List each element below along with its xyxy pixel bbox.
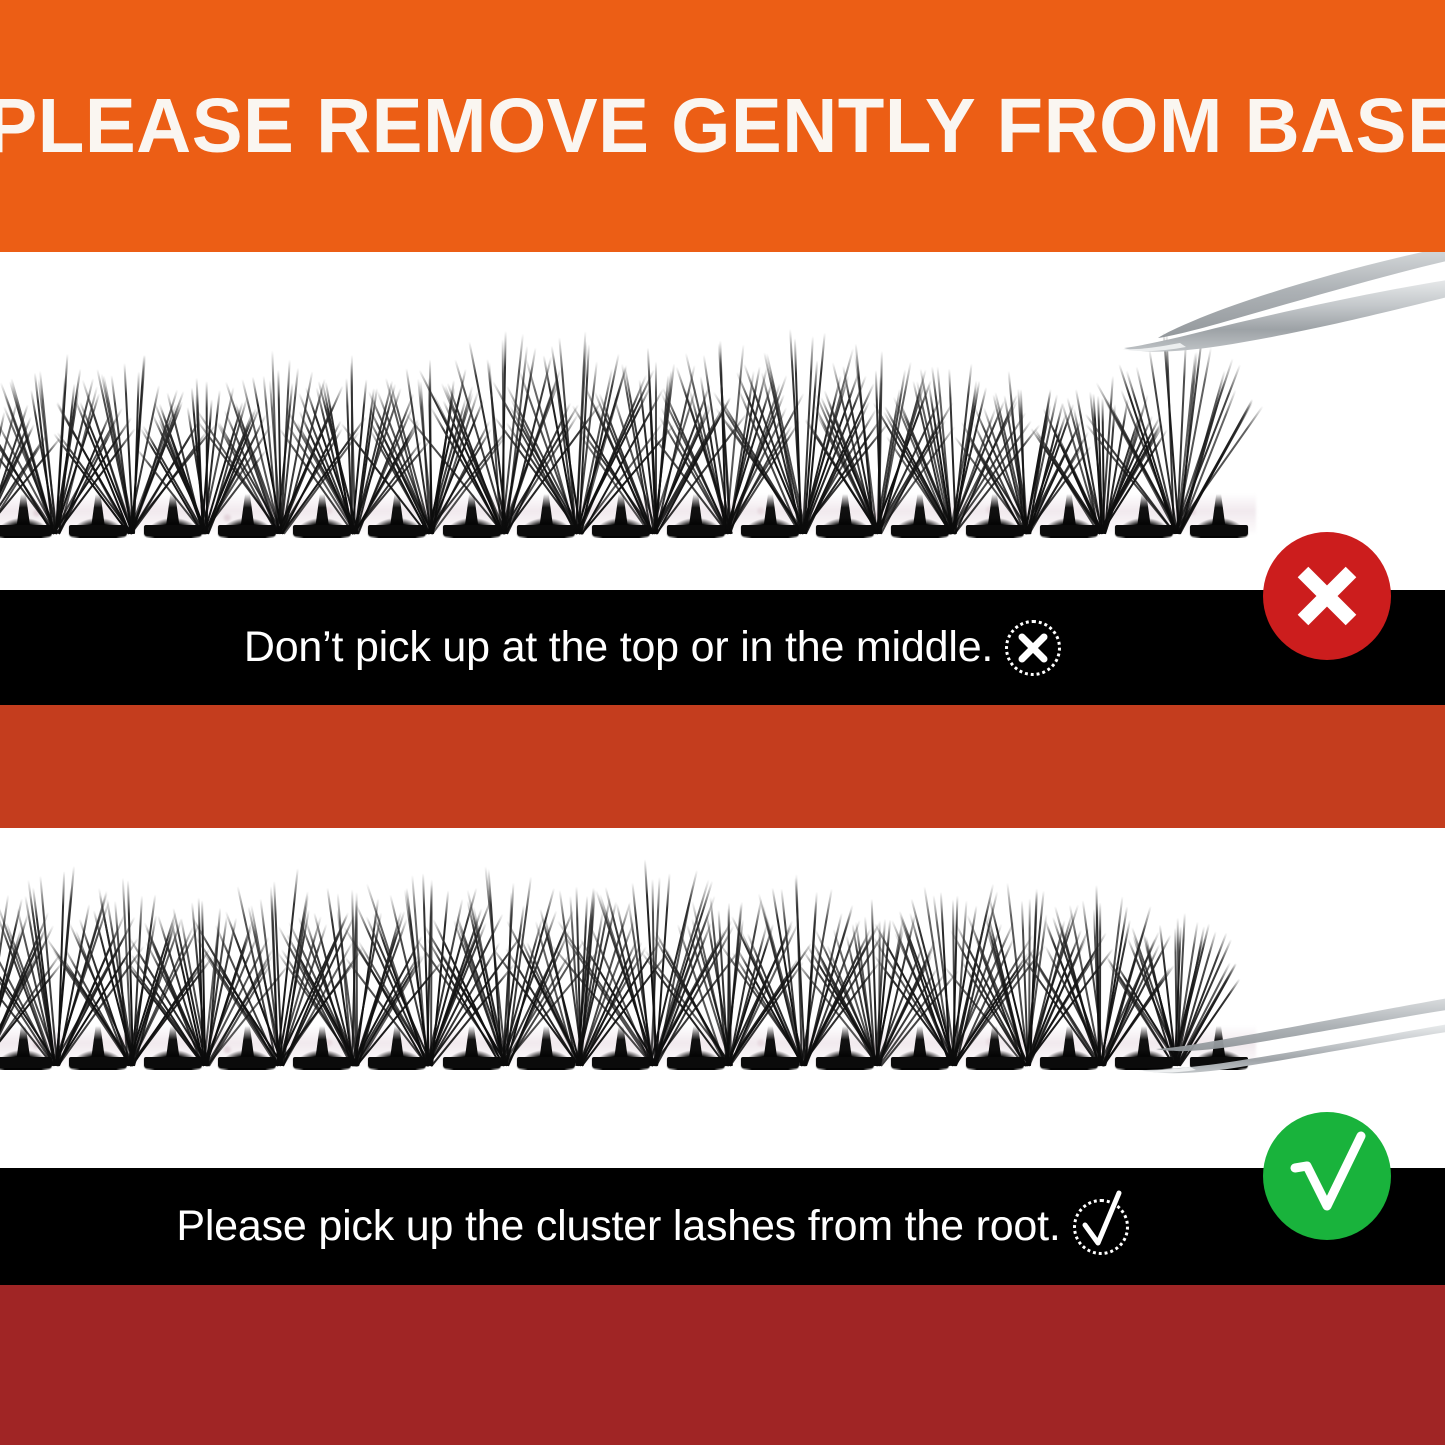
lash-cluster [1176, 339, 1262, 534]
lash-base [1190, 1057, 1248, 1068]
caption-bar-incorrect: Don’t pick up at the top or in the middl… [0, 590, 1445, 705]
page-title: PLEASE REMOVE GENTLY FROM BASE [0, 88, 1445, 165]
lash-hair [351, 355, 353, 534]
lash-base [517, 1057, 575, 1068]
lash-base [443, 1057, 501, 1068]
lash-base [144, 1057, 202, 1068]
lash-strip-incorrect [0, 345, 1256, 560]
lash-base [443, 525, 501, 536]
cross-mark-icon [1005, 620, 1061, 676]
lash-base [69, 1057, 127, 1068]
lash-base [1115, 525, 1173, 536]
lash-base [667, 1057, 725, 1068]
lash-base [517, 525, 575, 536]
lash-base [368, 525, 426, 536]
lash-base [891, 525, 949, 536]
check-icon [1281, 1130, 1373, 1222]
divider-band-middle [0, 705, 1445, 828]
lash-strip-correct [0, 877, 1256, 1092]
lash-base [218, 525, 276, 536]
lash-base [816, 1057, 874, 1068]
lash-base [966, 1057, 1024, 1068]
photo-panel-correct [0, 828, 1445, 1168]
lash-base [218, 1057, 276, 1068]
cross-icon [1286, 555, 1368, 637]
lash-base [293, 525, 351, 536]
lash-base [1040, 1057, 1098, 1068]
lash-base [1040, 525, 1098, 536]
lash-base [0, 525, 52, 536]
status-badge-incorrect [1263, 532, 1391, 660]
caption-bar-correct: Please pick up the cluster lashes from t… [0, 1168, 1445, 1285]
lash-base [816, 525, 874, 536]
lash-base [144, 525, 202, 536]
header-banner: PLEASE REMOVE GENTLY FROM BASE [0, 0, 1445, 252]
caption-text-incorrect: Don’t pick up at the top or in the middl… [244, 623, 993, 672]
divider-band-bottom [0, 1285, 1445, 1445]
lash-base [1115, 1057, 1173, 1068]
lash-hair [1099, 902, 1101, 1066]
lash-base [592, 525, 650, 536]
lash-base [667, 525, 725, 536]
lash-base [69, 525, 127, 536]
lash-base [891, 1057, 949, 1068]
status-badge-correct [1263, 1112, 1391, 1240]
lash-base [966, 525, 1024, 536]
check-mark-icon [1073, 1199, 1129, 1255]
lash-base [293, 1057, 351, 1068]
instruction-graphic: PLEASE REMOVE GENTLY FROM BASE [0, 0, 1445, 1445]
lash-stage-correct [0, 828, 1445, 1168]
lash-cluster [1176, 913, 1262, 1066]
caption-text-correct: Please pick up the cluster lashes from t… [176, 1202, 1060, 1251]
lash-base [741, 1057, 799, 1068]
photo-panel-incorrect [0, 252, 1445, 590]
lash-base [368, 1057, 426, 1068]
lash-base [0, 1057, 52, 1068]
lash-base [1190, 525, 1248, 536]
lash-stage-incorrect [0, 252, 1445, 590]
lash-base [592, 1057, 650, 1068]
lash-base [741, 525, 799, 536]
